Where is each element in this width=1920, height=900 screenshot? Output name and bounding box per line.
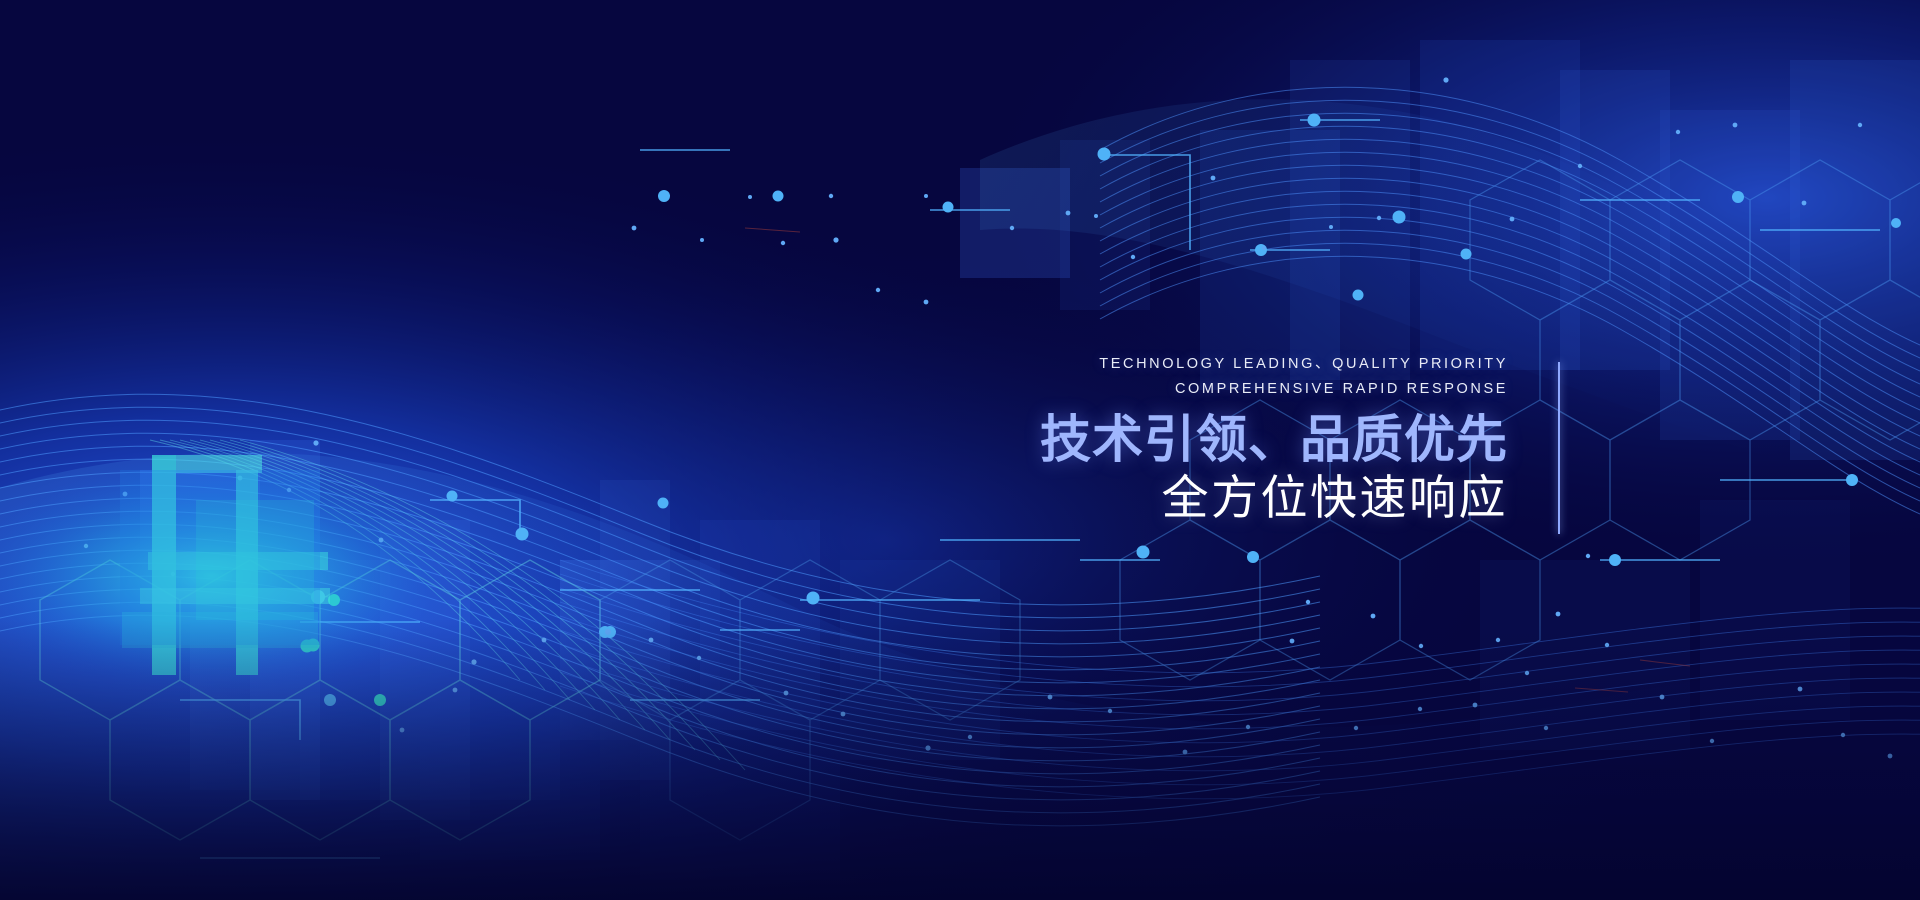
hero-eyebrow: TECHNOLOGY LEADING、QUALITY PRIORITY COMP… bbox=[880, 352, 1508, 402]
hero-text-block: TECHNOLOGY LEADING、QUALITY PRIORITY COMP… bbox=[880, 352, 1508, 526]
hero-vertical-divider bbox=[1558, 362, 1560, 534]
banner-stage: TECHNOLOGY LEADING、QUALITY PRIORITY COMP… bbox=[0, 0, 1920, 900]
hero-headline-primary: 技术引领、品质优先 bbox=[880, 410, 1508, 469]
hero-headline-secondary: 全方位快速响应 bbox=[880, 469, 1508, 526]
